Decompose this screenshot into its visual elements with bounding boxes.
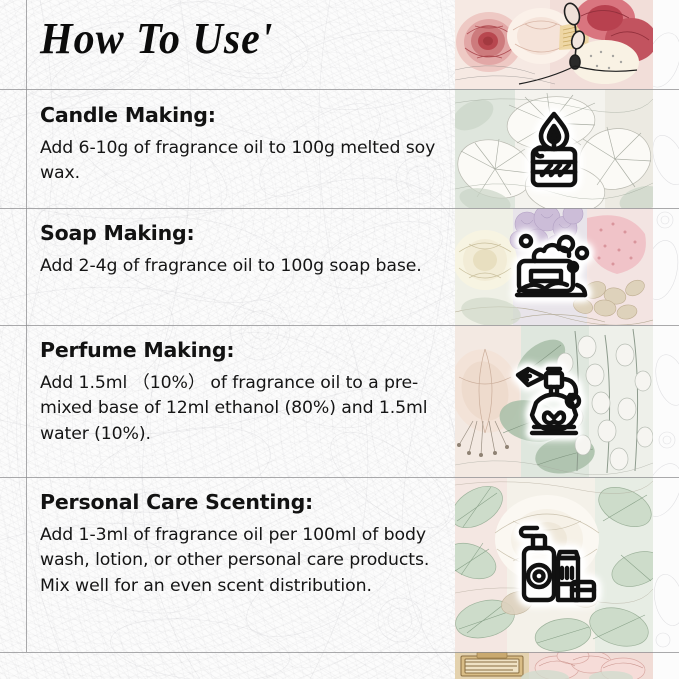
section-heading-soap-making: Soap Making: [40, 221, 445, 245]
section-candle-making: Candle Making: Add 6-10g of fragrance oi… [40, 103, 445, 187]
image-band-leaves-pale [455, 477, 653, 652]
image-band-lilac-berries [455, 208, 653, 325]
section-perfume-making: Perfume Making: Add 1.5ml （10%） of fragr… [40, 338, 445, 447]
how-to-use-infographic: How To Use' Candle Making: Add 6-10g of … [0, 0, 679, 679]
text-column: How To Use' Candle Making: Add 6-10g of … [0, 0, 455, 679]
image-band-books-blossom [455, 652, 653, 679]
section-body-perfume-making: Add 1.5ml （10%） of fragrance oil to a pr… [40, 371, 445, 447]
section-heading-personal-care-scenting: Personal Care Scenting: [40, 490, 445, 514]
image-band-roses-dragonfly [455, 0, 653, 89]
page-title: How To Use' [40, 14, 273, 65]
section-heading-candle-making: Candle Making: [40, 103, 445, 127]
image-band-white-blossoms [455, 89, 653, 208]
botanical-image-column [455, 0, 653, 679]
section-personal-care-scenting: Personal Care Scenting: Add 1-3ml of fra… [40, 490, 445, 599]
section-soap-making: Soap Making: Add 2-4g of fragrance oil t… [40, 221, 445, 279]
section-heading-perfume-making: Perfume Making: [40, 338, 445, 362]
section-body-soap-making: Add 2-4g of fragrance oil to 100g soap b… [40, 254, 445, 279]
right-margin-strip [653, 0, 679, 679]
section-body-candle-making: Add 6-10g of fragrance oil to 100g melte… [40, 136, 445, 187]
image-band-magnolia-sprigs [455, 325, 653, 477]
section-body-personal-care-scenting: Add 1-3ml of fragrance oil per 100ml of … [40, 523, 445, 599]
